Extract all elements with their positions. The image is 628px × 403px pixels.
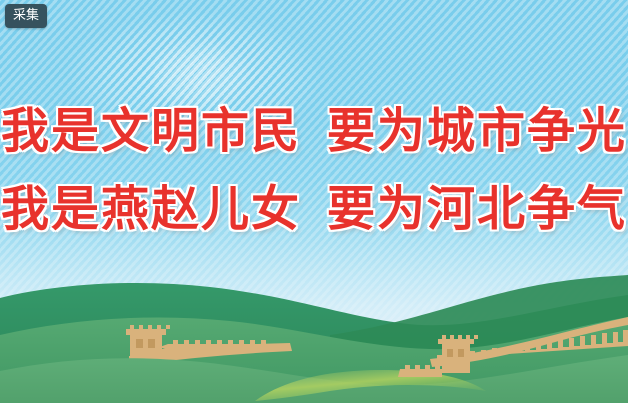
landscape-illustration: [0, 243, 628, 403]
slogan-line-2: 我是燕赵儿女要为河北争气: [0, 170, 628, 248]
banner-screenshot: 我是文明市民要为城市争光 我是燕赵儿女要为河北争气: [0, 0, 628, 403]
slogan-line-2-left: 我是燕赵儿女: [1, 181, 301, 237]
slogan-line-2-right: 要为河北争气: [327, 181, 627, 237]
slogan-line-1-right: 要为城市争光: [327, 103, 627, 159]
slogan-line-1: 我是文明市民要为城市争光: [0, 92, 628, 170]
capture-button[interactable]: 采集: [5, 4, 47, 28]
slogan-block: 我是文明市民要为城市争光 我是燕赵儿女要为河北争气: [0, 92, 628, 248]
slogan-line-1-left: 我是文明市民: [1, 103, 301, 159]
